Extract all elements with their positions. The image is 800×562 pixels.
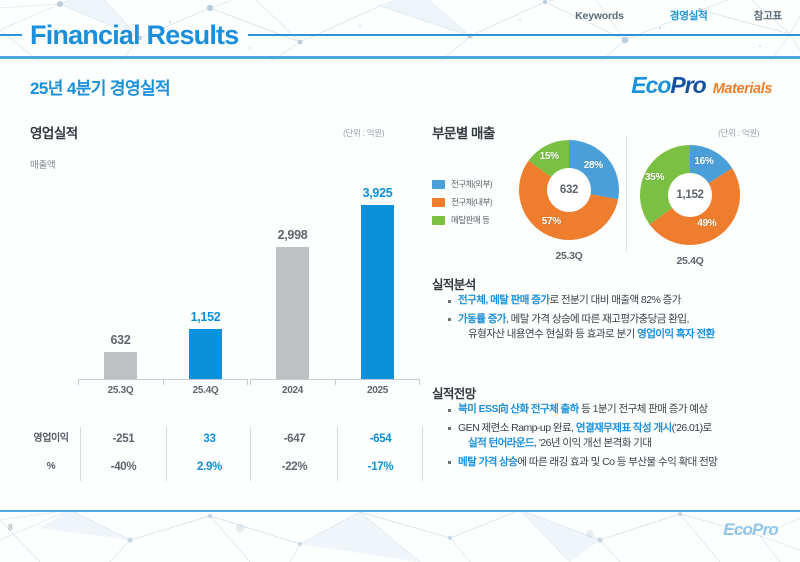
donut-svg-q4 [640,145,740,245]
x-label-1: 25.4Q [163,385,248,396]
legend-label-1: 전구체(내부) [451,196,492,208]
table-row-label-1: % [22,453,80,481]
outlook-bullet-text-1: GEN 제련소 Ramp-up 완료, 연결재무제표 작성 개시('26.01)… [458,421,712,452]
brand-pro-text: Pro [670,72,705,99]
right-panel-heading: 부문별 매출 [432,122,495,142]
bar-cell-3: 3,925 [335,155,420,380]
left-panel-heading: 영업실적 [30,122,78,142]
page-title: Financial Results [30,22,238,49]
analysis-bullet-0: 전구체, 메탈 판매 증가로 전분기 대비 매출액 82% 증가 [448,293,793,309]
section-subtitle: 25년 4분기 경영실적 [30,74,170,99]
donut-caption-q4: 25.4Q [630,255,750,267]
table-row: 영업이익 -251 33 -647 -654 [22,425,422,453]
donut-caption-q3: 25.3Q [509,250,629,262]
footer-brand-logo: EcoPro [723,520,778,540]
donut-pct-q4-0: 16% [694,156,713,167]
background-polygon-bottom [0,510,800,562]
brand-logo: Eco Pro Materials [631,72,772,99]
bar-value-3: 3,925 [363,186,393,200]
analysis-bullet-text-1: 가동률 증가, 메탈 가격 상승에 따른 재고평가충당금 환입,유형자산 내용연… [458,312,715,343]
table-row-label-0: 영업이익 [22,425,80,453]
table-cell-0-3: -654 [338,425,423,453]
outlook-bullet-0: 북미 ESS向 산화 전구체 출하 등 1분기 전구체 판매 증가 예상 [448,402,793,418]
x-label-0: 25.3Q [78,385,163,396]
legend-swatch-metal-icon [432,216,445,225]
table-cell-0-2: -647 [252,425,337,453]
donut-pct-q3-2: 15% [540,151,559,162]
outlook-bullet-text-0: 북미 ESS向 산화 전구체 출하 등 1분기 전구체 판매 증가 예상 [458,402,708,418]
bullet-dot-icon [448,300,451,303]
table-cell-0-0: -251 [81,425,166,453]
outlook-bullet-text-2: 메탈 가격 상승에 따른 래깅 효과 및 Co 등 부산물 수익 확대 전망 [458,455,717,471]
bar-0 [104,352,137,380]
bar-cell-0: 632 [78,155,163,380]
title-rule-right [248,34,800,36]
table-row: % -40% 2.9% -22% -17% [22,453,422,481]
table-cell-1-3: -17% [338,453,423,481]
bar-2 [276,247,309,381]
donut-separator [626,136,627,252]
outlook-bullet-2: 메탈 가격 상승에 따른 래깅 효과 및 Co 등 부산물 수익 확대 전망 [448,455,793,471]
bar-chart-x-labels: 25.3Q 25.4Q 2024 2025 [78,385,420,401]
outlook-bullet-1: GEN 제련소 Ramp-up 완료, 연결재무제표 작성 개시('26.01)… [448,421,793,452]
right-panel-unit: (단위 : 억원) [718,127,759,139]
x-label-2: 2024 [250,385,335,396]
bullet-dot-icon [448,427,451,430]
bullet-dot-icon [448,461,451,464]
slide-root: Keywords 경영실적 참고표 Financial Results 25년 … [0,0,800,562]
bar-group: 632 1,152 2,998 3,925 [78,155,420,380]
legend-item-2: 메탈판매 등 [432,214,492,226]
bar-1 [189,329,222,380]
summary-table: 영업이익 -251 33 -647 -654 % -40% 2.9% -22% … [22,425,422,487]
legend-label-0: 전구체(외부) [451,178,492,190]
outlook-bullets: 북미 ESS向 산화 전구체 출하 등 1분기 전구체 판매 증가 예상 GEN… [448,402,793,473]
donut-pct-q4-2: 35% [645,172,664,183]
left-panel-unit: (단위 : 억원) [343,127,384,139]
brand-materials-text: Materials [713,81,772,97]
table-cell-1-0: -40% [81,453,166,481]
table-cell-0-1: 33 [167,425,252,453]
table-cell-1-1: 2.9% [167,453,252,481]
bar-value-2: 2,998 [278,228,308,242]
analysis-bullets: 전구체, 메탈 판매 증가로 전분기 대비 매출액 82% 증가 가동률 증가,… [448,293,793,346]
donut-pct-q4-1: 49% [697,218,716,229]
analysis-bullet-1: 가동률 증가, 메탈 가격 상승에 따른 재고평가충당금 환입,유형자산 내용연… [448,312,793,343]
analysis-heading: 실적분석 [432,274,476,293]
analysis-bullet-text-0: 전구체, 메탈 판매 증가로 전분기 대비 매출액 82% 증가 [458,293,681,309]
header-underline [0,56,800,59]
donut-legend: 전구체(외부) 전구체(내부) 메탈판매 등 [432,178,492,232]
brand-eco-text: Eco [631,72,670,99]
title-rule-left [0,34,22,36]
page-number: 8 [8,523,12,532]
donut-chart-q3: 632 28% 57% 15% [519,140,619,240]
bullet-dot-icon [448,318,451,321]
donut-chart-q4: 1,152 16% 49% 35% [640,145,740,245]
legend-item-1: 전구체(내부) [432,196,492,208]
bar-3 [361,205,394,380]
bullet-dot-icon [448,409,451,412]
legend-swatch-internal-icon [432,198,445,207]
x-label-3: 2025 [335,385,420,396]
donut-pct-q3-0: 28% [584,160,603,171]
donut-pct-q3-1: 57% [542,216,561,227]
bar-value-1: 1,152 [191,310,221,324]
bar-value-0: 632 [111,333,131,347]
bar-chart: 632 1,152 2,998 3,925 [30,155,420,390]
footer-line [0,510,800,513]
outlook-heading: 실적전망 [432,383,476,402]
donut-svg-q3 [519,140,619,240]
table-cell-1-2: -22% [252,453,337,481]
legend-swatch-external-icon [432,180,445,189]
bar-cell-2: 2,998 [250,155,335,380]
legend-label-2: 메탈판매 등 [451,214,489,226]
legend-item-0: 전구체(외부) [432,178,492,190]
title-row: Financial Results [0,18,800,52]
bar-cell-1: 1,152 [163,155,248,380]
